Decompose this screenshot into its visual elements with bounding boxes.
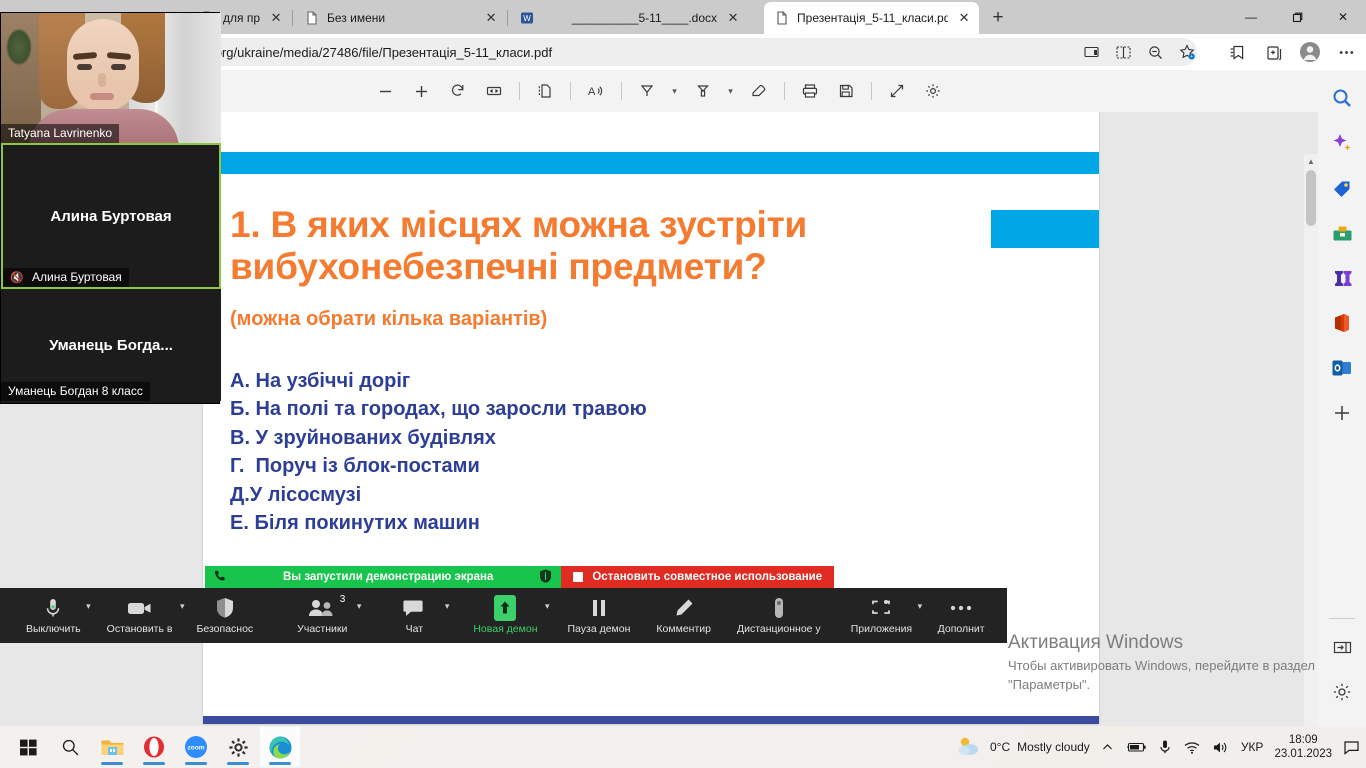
zoom-sharing-status-text: Вы запустили демонстрацию экрана <box>237 571 529 583</box>
browser-tab-1-title: для пр <box>223 11 260 25</box>
running-indicator <box>185 762 207 765</box>
slide-option-a: А. На узбіччі доріг <box>230 367 1030 395</box>
slide-option-d: Д.У лісосмузі <box>230 481 1030 509</box>
svg-text:A: A <box>588 86 596 98</box>
zoom-share-banner: Вы запустили демонстрацию экрана Останов… <box>205 566 834 588</box>
taskbar-app-icons: zoom <box>0 726 300 768</box>
pause-icon <box>589 596 609 620</box>
chevron-down-icon[interactable]: ▾ <box>545 601 550 612</box>
minimize-button[interactable]: — <box>1228 0 1274 34</box>
zoom-more-label: Дополнит <box>938 623 985 635</box>
pdf-scroll-up-arrow[interactable]: ▲ <box>1304 154 1318 168</box>
chevron-down-icon[interactable]: ▾ <box>86 601 91 612</box>
new-tab-button[interactable]: + <box>983 4 1013 32</box>
zoom-video-panel[interactable]: Tatyana Lavrinenko Алина Буртовая 🔇 Алин… <box>0 12 220 404</box>
edge-button[interactable] <box>260 727 300 767</box>
participant-eye-right <box>111 64 126 70</box>
pdf-save-button[interactable] <box>831 76 861 106</box>
zoom-stop-share-text: Остановить совместное использование <box>592 571 822 583</box>
windows-activation-watermark: Активация Windows Чтобы активировать Win… <box>1008 632 1328 695</box>
zoom-out-icon[interactable] <box>1144 41 1166 63</box>
shield-icon <box>214 596 236 620</box>
camera-icon <box>126 596 154 620</box>
split-screen-icon[interactable] <box>1112 41 1134 63</box>
video-tile-2[interactable]: Алина Буртовая 🔇 Алина Буртовая <box>1 143 221 289</box>
add-sidebar-icon[interactable] <box>1326 397 1358 429</box>
pdf-toolbar-separator <box>519 82 520 100</box>
chevron-down-icon[interactable]: ▾ <box>357 601 362 612</box>
more-dots-icon <box>948 596 974 620</box>
activation-body: Чтобы активировать Windows, перейдите в … <box>1008 657 1328 695</box>
slide-option-v: В. У зруйнованих будівлях <box>230 424 1030 452</box>
participant-mouth <box>90 93 114 100</box>
office-icon[interactable] <box>1326 307 1358 339</box>
remote-control-icon <box>770 596 788 620</box>
video-tile-2-name-text: Алина Буртовая <box>32 270 122 284</box>
collapse-sidebar-icon[interactable] <box>1326 631 1358 663</box>
zoom-button[interactable]: zoom <box>176 727 216 767</box>
zoom-chat-label: Чат <box>406 623 423 635</box>
search-icon[interactable] <box>1326 82 1358 114</box>
taskbar-clock[interactable]: 18:09 23.01.2023 <box>1274 733 1332 762</box>
share-screen-icon <box>494 596 516 620</box>
zoom-security-button[interactable]: Безопаснос <box>192 588 257 643</box>
slide-option-b: Б. На полі та городах, що заросли травою <box>230 395 1030 423</box>
windows-taskbar: zoom 0°C Mostly cloudy <box>0 726 1366 768</box>
running-indicator <box>269 762 291 765</box>
mic-off-icon: 🔇 <box>10 272 24 284</box>
video-background-plant <box>3 19 43 81</box>
shield-icon[interactable] <box>539 569 552 586</box>
favorites-icon[interactable] <box>1226 40 1250 64</box>
browser-tab-3-title: __________5-11____.docx <box>542 11 717 25</box>
activation-title: Активация Windows <box>1008 632 1328 654</box>
video-tile-1-name-text: Tatyana Lavrinenko <box>8 126 112 140</box>
zoom-pause-share-label: Пауза демон <box>568 623 631 635</box>
taskbar-date: 23.01.2023 <box>1274 747 1332 761</box>
pdf-scroll-thumb[interactable] <box>1306 170 1316 226</box>
pdf-zoom-out-button[interactable] <box>371 76 401 106</box>
running-indicator <box>143 762 165 765</box>
maximize-button[interactable] <box>1274 0 1320 34</box>
zoom-pause-share-button[interactable]: Пауза демон <box>564 588 635 643</box>
pdf-highlight-options-caret[interactable]: ▾ <box>724 86 738 97</box>
participants-icon <box>307 596 337 620</box>
pdf-fullscreen-button[interactable] <box>882 76 912 106</box>
zoom-mute-label: Выключить <box>26 623 81 635</box>
taskbar-weather-widget[interactable]: 0°C Mostly cloudy <box>956 735 1090 760</box>
zoom-apps-button[interactable]: Приложения ▾ <box>847 588 916 643</box>
pdf-page-view-button[interactable] <box>530 76 560 106</box>
svg-text:+: + <box>1190 54 1193 60</box>
participant-nose <box>98 73 106 87</box>
address-url-text: s://www.unicef.org/ukraine/media/27486/f… <box>128 45 1187 60</box>
pdf-zoom-in-button[interactable] <box>407 76 437 106</box>
pdf-toolbar-separator <box>871 82 872 100</box>
chevron-down-icon[interactable]: ▾ <box>445 601 450 612</box>
zoom-meeting-toolbar: Выключить ▾ Остановить в ▾ Безопаснос Уч… <box>0 588 1007 643</box>
slide-option-e: Е. Біля покинутих машин <box>230 509 1030 537</box>
stop-square-icon <box>573 572 583 582</box>
zoom-video-label: Остановить в <box>107 623 173 635</box>
zoom-apps-label: Приложения <box>851 623 912 635</box>
video-tile-1[interactable]: Tatyana Lavrinenko <box>1 13 221 143</box>
tab-separator <box>507 10 508 26</box>
tab-separator <box>292 10 293 26</box>
video-tile-2-big-name: Алина Буртовая <box>50 208 171 225</box>
slide-subtitle: (можна обрати кілька варіантів) <box>230 308 930 331</box>
pdf-highlight-button[interactable] <box>688 76 718 106</box>
zoom-remote-control-label: Дистанционное у <box>737 623 821 635</box>
slide-title: 1. В яких місцях можна зустріти вибухоне… <box>230 204 990 288</box>
profile-avatar-icon[interactable] <box>1298 40 1322 64</box>
browser-tab-2-title: Без имени <box>327 11 475 25</box>
browser-tab-4[interactable]: Презентація_5-11_класи.pdf ✕ <box>764 2 979 34</box>
slide-options-list: А. На узбіччі доріг Б. На полі та города… <box>230 367 1030 537</box>
running-indicator <box>227 762 249 765</box>
show-hidden-icons[interactable] <box>1101 741 1114 754</box>
collections-icon[interactable] <box>1262 40 1286 64</box>
browser-tab-4-title: Презентація_5-11_класи.pdf <box>797 11 948 25</box>
slide-bottom-accent-bar <box>203 716 1099 724</box>
games-icon[interactable] <box>1326 262 1358 294</box>
phone-icon <box>214 569 227 585</box>
browser-toolbar-right <box>1226 38 1358 66</box>
zoom-more-button[interactable]: Дополнит <box>932 588 990 643</box>
slide-top-accent-bar <box>203 152 1099 174</box>
microphone-icon <box>42 596 64 620</box>
cast-icon[interactable] <box>1080 41 1102 63</box>
zoom-participants-label: Участники <box>297 623 347 635</box>
window-controls: — ✕ <box>1228 0 1366 34</box>
video-tile-3-big-name: Уманець Богда... <box>49 337 173 354</box>
file-explorer-button[interactable] <box>92 727 132 767</box>
pdf-toolbar-separator <box>570 82 571 100</box>
running-indicator <box>101 762 123 765</box>
outlook-icon[interactable] <box>1326 352 1358 384</box>
slide-option-g: Г. Поруч із блок-постами <box>230 452 1030 480</box>
settings-button[interactable] <box>218 727 258 767</box>
zoom-new-share-label: Новая демон <box>473 623 537 635</box>
pdf-erase-button[interactable] <box>744 76 774 106</box>
zoom-stop-share-button[interactable]: Остановить совместное использование <box>561 566 834 588</box>
video-tile-3-name-text: Уманець Богдан 8 класс <box>8 384 143 398</box>
chevron-down-icon[interactable]: ▾ <box>180 601 185 612</box>
zoom-participants-button[interactable]: Участники 3 ▾ <box>293 588 351 643</box>
pdf-fit-page-button[interactable] <box>479 76 509 106</box>
tab-strip: для пр ✕ Без имени ✕ W __________5- <box>190 2 1013 34</box>
edge-sidebar <box>1318 70 1366 726</box>
battery-icon[interactable] <box>1125 740 1147 754</box>
notifications-icon[interactable] <box>1343 740 1360 755</box>
blank-page-icon <box>304 10 320 26</box>
tools-icon[interactable] <box>1326 217 1358 249</box>
pdf-read-aloud-button[interactable]: A <box>581 76 611 106</box>
chevron-down-icon[interactable]: ▾ <box>918 601 923 612</box>
video-tile-1-name: Tatyana Lavrinenko <box>1 124 119 143</box>
pdf-toolbar-separator <box>784 82 785 100</box>
zoom-annotate-button[interactable]: Комментир <box>652 588 715 643</box>
close-button[interactable]: ✕ <box>1320 0 1366 34</box>
video-tile-3[interactable]: Уманець Богда... Уманець Богдан 8 класс <box>1 289 221 401</box>
zoom-annotate-label: Комментир <box>656 623 711 635</box>
settings-more-icon[interactable] <box>1334 40 1358 64</box>
pdf-print-button[interactable] <box>795 76 825 106</box>
video-tile-2-name: 🔇 Алина Буртовая <box>3 268 129 287</box>
zoom-participants-count: 3 <box>340 594 346 605</box>
word-document-icon: W <box>519 10 535 26</box>
pdf-document-icon <box>774 10 790 26</box>
weather-icon <box>956 735 983 760</box>
zoom-sharing-status: Вы запустили демонстрацию экрана <box>205 566 561 588</box>
browser-tab-4-close[interactable]: ✕ <box>955 9 973 27</box>
microphone-icon[interactable] <box>1158 739 1172 755</box>
svg-text:zoom: zoom <box>187 744 204 751</box>
zoom-mute-button[interactable]: Выключить ▾ <box>22 588 85 643</box>
weather-condition: Mostly cloudy <box>1017 740 1090 754</box>
browser-tab-1-close[interactable]: ✕ <box>267 9 285 27</box>
browser-tab-2-close[interactable]: ✕ <box>482 9 500 27</box>
shopping-tag-icon[interactable] <box>1326 172 1358 204</box>
pdf-draw-button[interactable] <box>632 76 662 106</box>
taskbar-language-indicator[interactable]: УКР <box>1241 740 1264 754</box>
zoom-security-label: Безопаснос <box>196 623 253 635</box>
browser-tab-3[interactable]: W __________5-11____.docx ✕ <box>509 2 764 34</box>
video-tile-3-name: Уманець Богдан 8 класс <box>1 382 150 401</box>
zoom-video-button[interactable]: Остановить в ▾ <box>103 588 177 643</box>
sidebar-divider <box>1329 618 1355 619</box>
participant-eye-left <box>77 64 92 70</box>
pen-icon <box>673 596 695 620</box>
sidebar-settings-icon[interactable] <box>1326 676 1358 708</box>
search-button[interactable] <box>50 727 90 767</box>
chat-icon <box>402 596 426 620</box>
weather-temperature: 0°C <box>990 740 1010 754</box>
volume-icon[interactable] <box>1212 740 1230 755</box>
pdf-settings-button[interactable] <box>918 76 948 106</box>
start-button[interactable] <box>8 727 48 767</box>
address-input[interactable]: s://www.unicef.org/ukraine/media/27486/f… <box>112 38 1197 66</box>
svg-text:W: W <box>523 14 531 23</box>
wifi-icon[interactable] <box>1183 740 1201 755</box>
slide-right-accent-block <box>991 210 1099 248</box>
pdf-draw-options-caret[interactable]: ▾ <box>668 86 682 97</box>
address-bar-actions: + <box>1080 38 1198 66</box>
apps-icon <box>869 596 893 620</box>
taskbar-time: 18:09 <box>1289 733 1318 747</box>
zoom-chat-button[interactable]: Чат ▾ <box>385 588 443 643</box>
system-tray: 0°C Mostly cloudy УКР 18:09 23.01.2023 <box>956 726 1366 768</box>
browser-tab-3-close[interactable]: ✕ <box>724 9 742 27</box>
opera-button[interactable] <box>134 727 174 767</box>
copilot-sparkle-icon[interactable] <box>1326 127 1358 159</box>
zoom-remote-control-button[interactable]: Дистанционное у <box>733 588 825 643</box>
add-favorite-icon[interactable]: + <box>1176 41 1198 63</box>
zoom-new-share-button[interactable]: Новая демон ▾ <box>469 588 541 643</box>
pdf-toolbar-separator <box>621 82 622 100</box>
browser-tab-2[interactable]: Без имени ✕ <box>294 2 506 34</box>
pdf-rotate-button[interactable] <box>443 76 473 106</box>
